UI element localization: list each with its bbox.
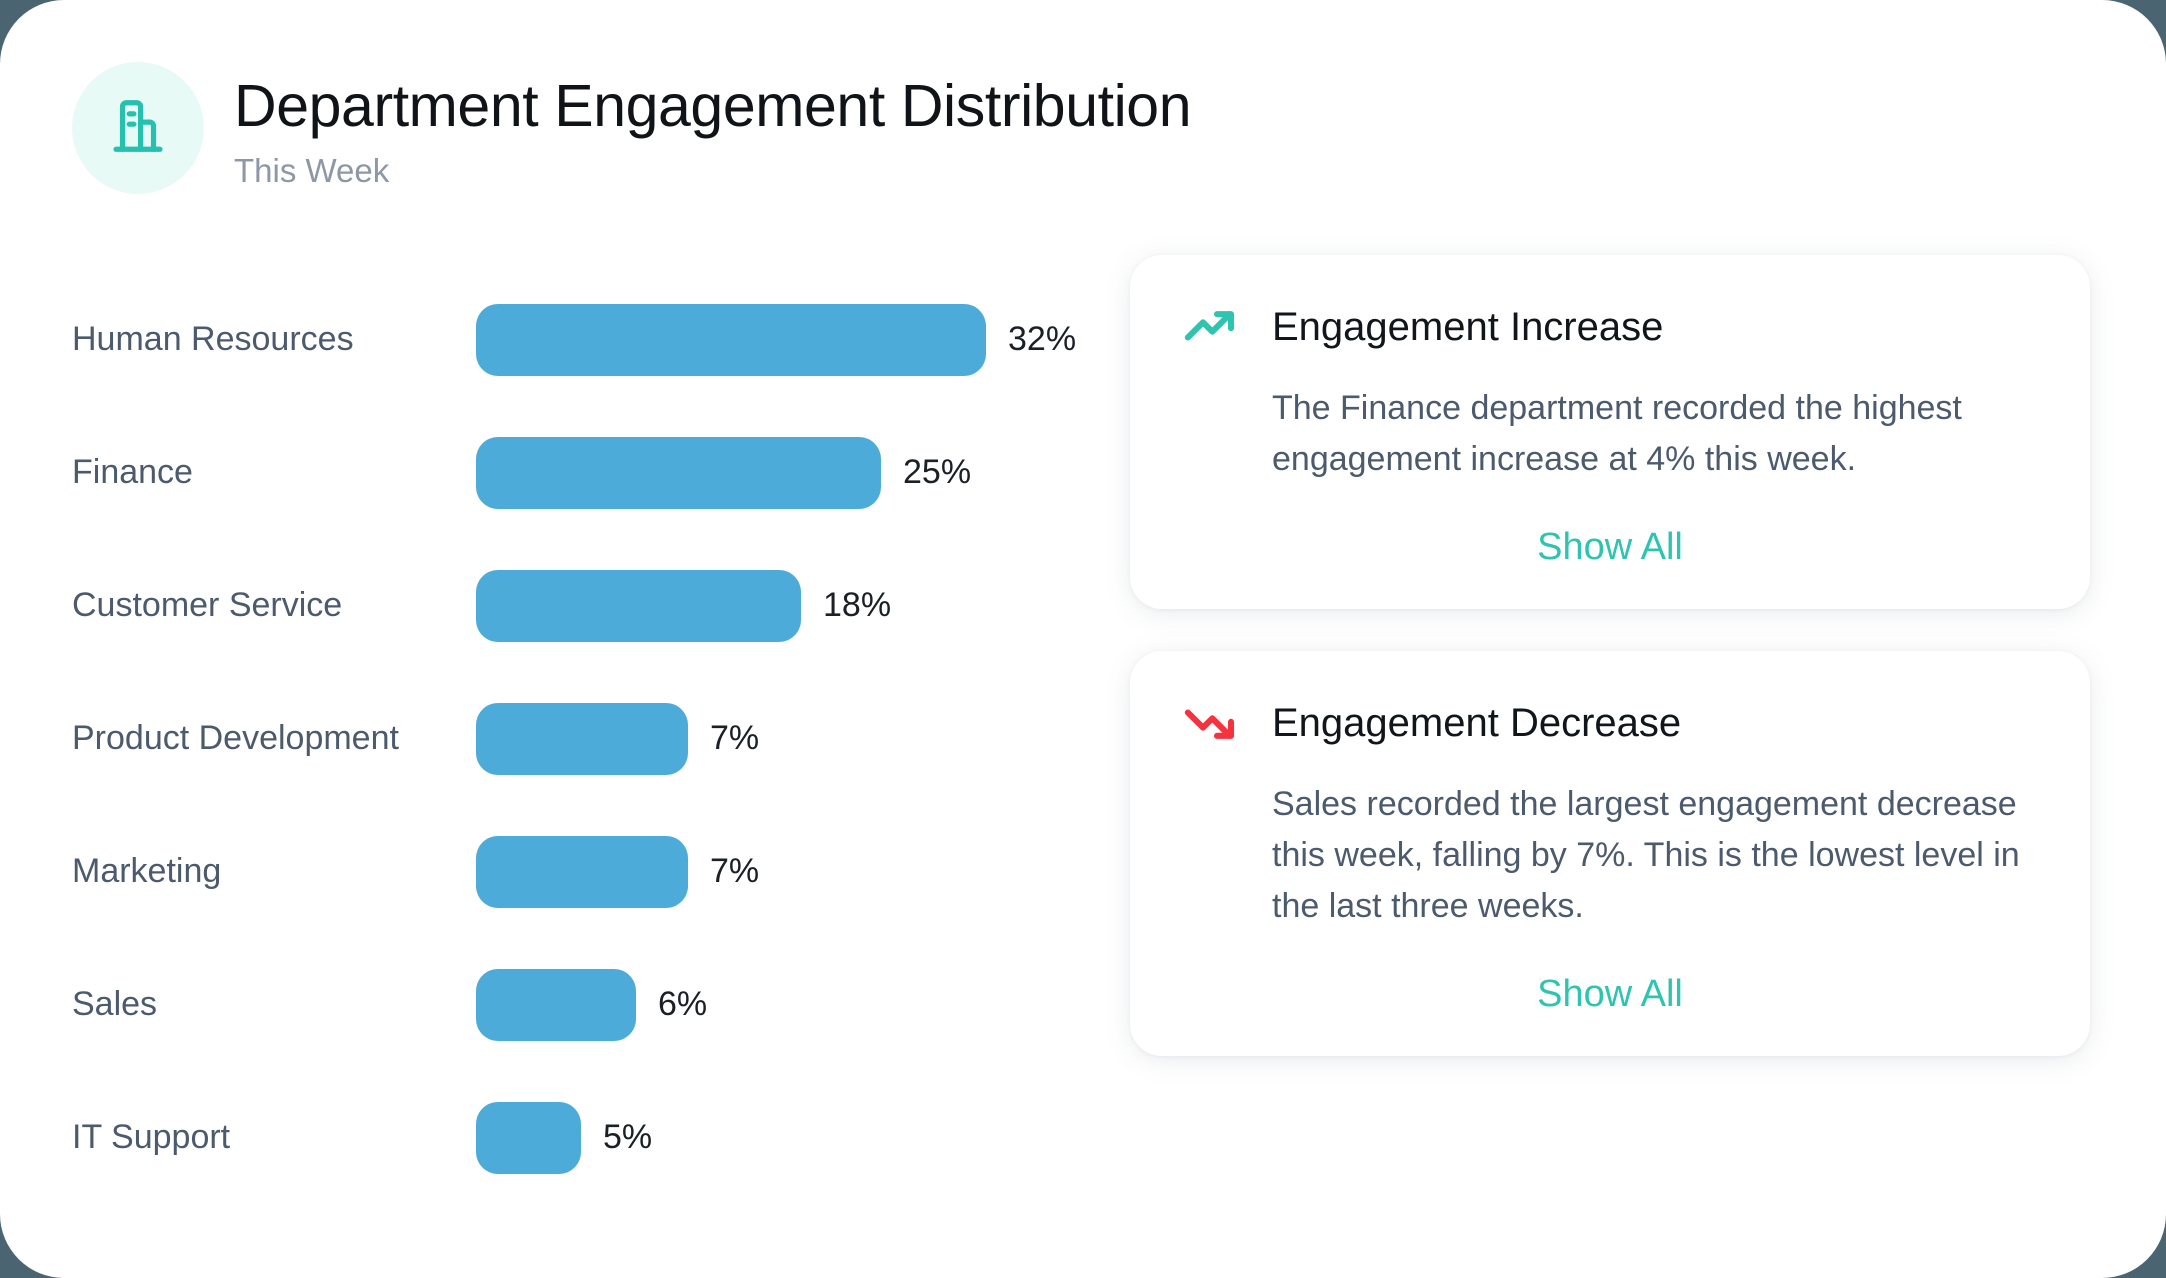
insight-title: Engagement Increase bbox=[1272, 305, 1663, 349]
bar-value: 6% bbox=[658, 985, 707, 1024]
bar-row: IT Support 5% bbox=[72, 1071, 1130, 1204]
engagement-bar-chart: Human Resources 32% Finance 25% Customer… bbox=[0, 255, 1130, 1204]
bar-value: 18% bbox=[823, 586, 891, 625]
dashboard-card: Department Engagement Distribution This … bbox=[0, 0, 2166, 1278]
show-all-link-decrease[interactable]: Show All bbox=[1182, 973, 2038, 1016]
bar-fill bbox=[476, 1102, 581, 1174]
insight-body: Sales recorded the largest engagement de… bbox=[1272, 779, 2038, 931]
bar-label: Finance bbox=[72, 452, 476, 492]
bar-fill bbox=[476, 570, 801, 642]
show-all-link-increase[interactable]: Show All bbox=[1182, 526, 2038, 569]
bar-value: 7% bbox=[710, 852, 759, 891]
bar-label: IT Support bbox=[72, 1117, 476, 1157]
bar-track: 25% bbox=[476, 437, 971, 509]
dashboard-body: Human Resources 32% Finance 25% Customer… bbox=[0, 255, 2166, 1204]
insight-body: The Finance department recorded the high… bbox=[1272, 383, 2038, 484]
bar-track: 18% bbox=[476, 570, 891, 642]
header-icon-badge bbox=[72, 62, 204, 194]
page-subtitle: This Week bbox=[234, 153, 1191, 189]
insight-header: Engagement Decrease bbox=[1182, 695, 2038, 751]
bar-row: Customer Service 18% bbox=[72, 539, 1130, 672]
insight-panel: Engagement Increase The Finance departme… bbox=[1130, 255, 2166, 1056]
bar-row: Sales 6% bbox=[72, 938, 1130, 1071]
header-text-block: Department Engagement Distribution This … bbox=[234, 62, 1191, 189]
trending-down-icon bbox=[1182, 695, 1238, 751]
bar-fill bbox=[476, 437, 881, 509]
bar-value: 32% bbox=[1008, 320, 1076, 359]
bar-label: Customer Service bbox=[72, 585, 476, 625]
building-icon bbox=[107, 95, 169, 162]
trending-up-icon bbox=[1182, 299, 1238, 355]
bar-value: 5% bbox=[603, 1118, 652, 1157]
bar-track: 7% bbox=[476, 836, 759, 908]
bar-fill bbox=[476, 836, 688, 908]
bar-label: Product Development bbox=[72, 718, 476, 758]
insight-title: Engagement Decrease bbox=[1272, 701, 1681, 745]
bar-fill bbox=[476, 969, 636, 1041]
bar-label: Human Resources bbox=[72, 319, 476, 359]
bar-fill bbox=[476, 703, 688, 775]
bar-track: 5% bbox=[476, 1102, 652, 1174]
insight-header: Engagement Increase bbox=[1182, 299, 2038, 355]
bar-label: Marketing bbox=[72, 851, 476, 891]
bar-label: Sales bbox=[72, 984, 476, 1024]
bar-track: 7% bbox=[476, 703, 759, 775]
bar-row: Marketing 7% bbox=[72, 805, 1130, 938]
bar-fill bbox=[476, 304, 986, 376]
bar-track: 6% bbox=[476, 969, 707, 1041]
insight-card-decrease: Engagement Decrease Sales recorded the l… bbox=[1130, 651, 2090, 1056]
page-title: Department Engagement Distribution bbox=[234, 74, 1191, 139]
insight-card-increase: Engagement Increase The Finance departme… bbox=[1130, 255, 2090, 609]
bar-track: 32% bbox=[476, 304, 1076, 376]
bar-value: 7% bbox=[710, 719, 759, 758]
bar-row: Finance 25% bbox=[72, 406, 1130, 539]
bar-row: Human Resources 32% bbox=[72, 273, 1130, 406]
page-header: Department Engagement Distribution This … bbox=[72, 62, 1191, 194]
bar-row: Product Development 7% bbox=[72, 672, 1130, 805]
bar-value: 25% bbox=[903, 453, 971, 492]
